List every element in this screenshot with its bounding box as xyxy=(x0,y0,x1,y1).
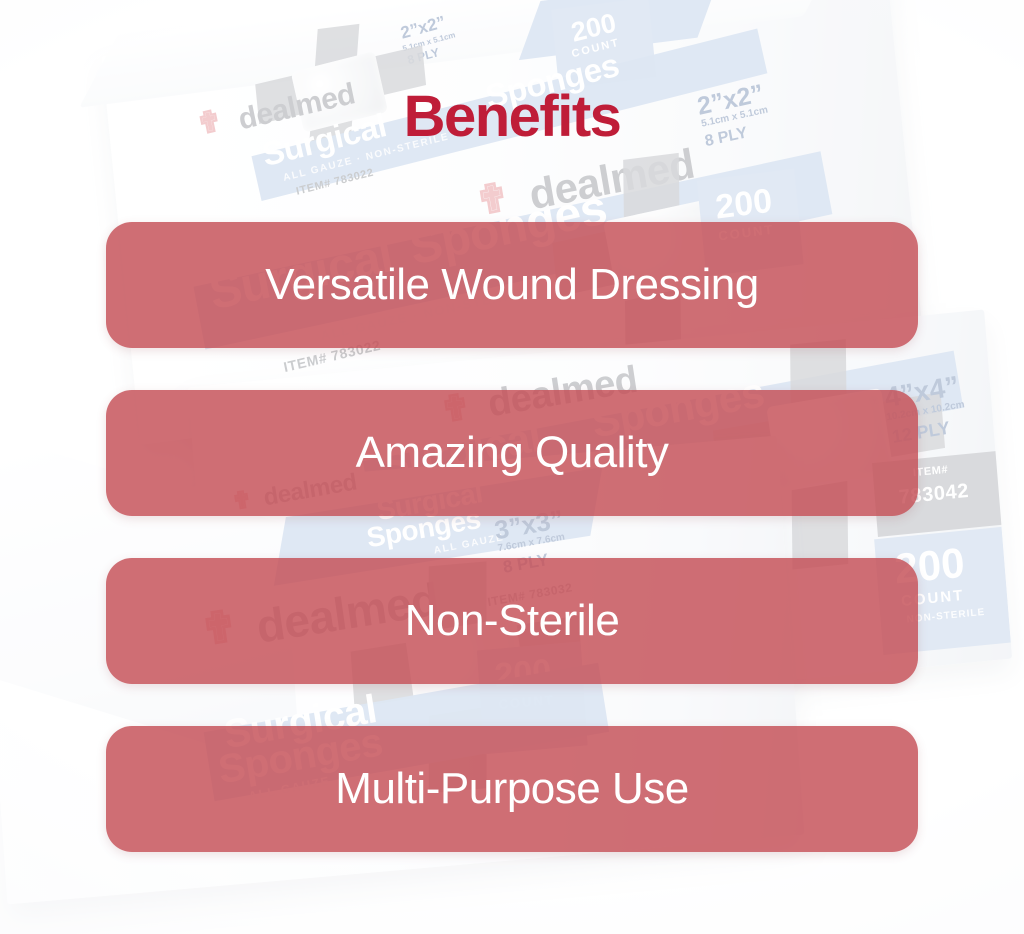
benefit-label: Multi-Purpose Use xyxy=(335,766,688,812)
benefit-label: Amazing Quality xyxy=(356,430,669,476)
benefit-label: Non-Sterile xyxy=(405,598,620,644)
benefit-pill-3: Non-Sterile xyxy=(106,558,918,684)
image-canvas: 200 COUNT 2”x2” 5.1cm x 5.1cm 8 PLY ✟ de… xyxy=(0,0,1024,934)
benefits-overlay: Benefits Versatile Wound Dressing Amazin… xyxy=(0,0,1024,934)
benefit-pill-1: Versatile Wound Dressing xyxy=(106,222,918,348)
benefit-label: Versatile Wound Dressing xyxy=(265,262,758,308)
benefit-pill-4: Multi-Purpose Use xyxy=(106,726,918,852)
page-title: Benefits xyxy=(0,88,1024,146)
benefit-pill-2: Amazing Quality xyxy=(106,390,918,516)
